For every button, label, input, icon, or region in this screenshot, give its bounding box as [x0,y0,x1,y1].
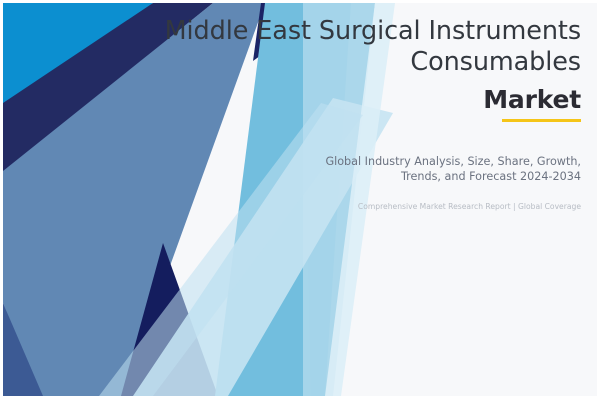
page-title-line-1: Middle East Surgical Instruments [165,16,581,46]
cover-canvas: Middle East Surgical Instruments Consuma… [3,3,597,396]
page-title-line-2: Consumables [410,47,581,77]
report-subtitle-line-1: Global Industry Analysis, Size, Share, G… [325,155,581,168]
report-subtitle-line-2: Trends, and Forecast 2024-2034 [401,170,581,183]
report-subtitle: Global Industry Analysis, Size, Share, G… [243,155,581,184]
report-caption: Comprehensive Market Research Report | G… [243,201,581,212]
page-title: Middle East Surgical Instruments Consuma… [123,16,581,78]
market-heading: Market [303,85,581,114]
cover-text-layer: Middle East Surgical Instruments Consuma… [3,3,597,396]
report-cover-page: Middle East Surgical Instruments Consuma… [0,0,600,400]
market-heading-underline [502,119,581,122]
